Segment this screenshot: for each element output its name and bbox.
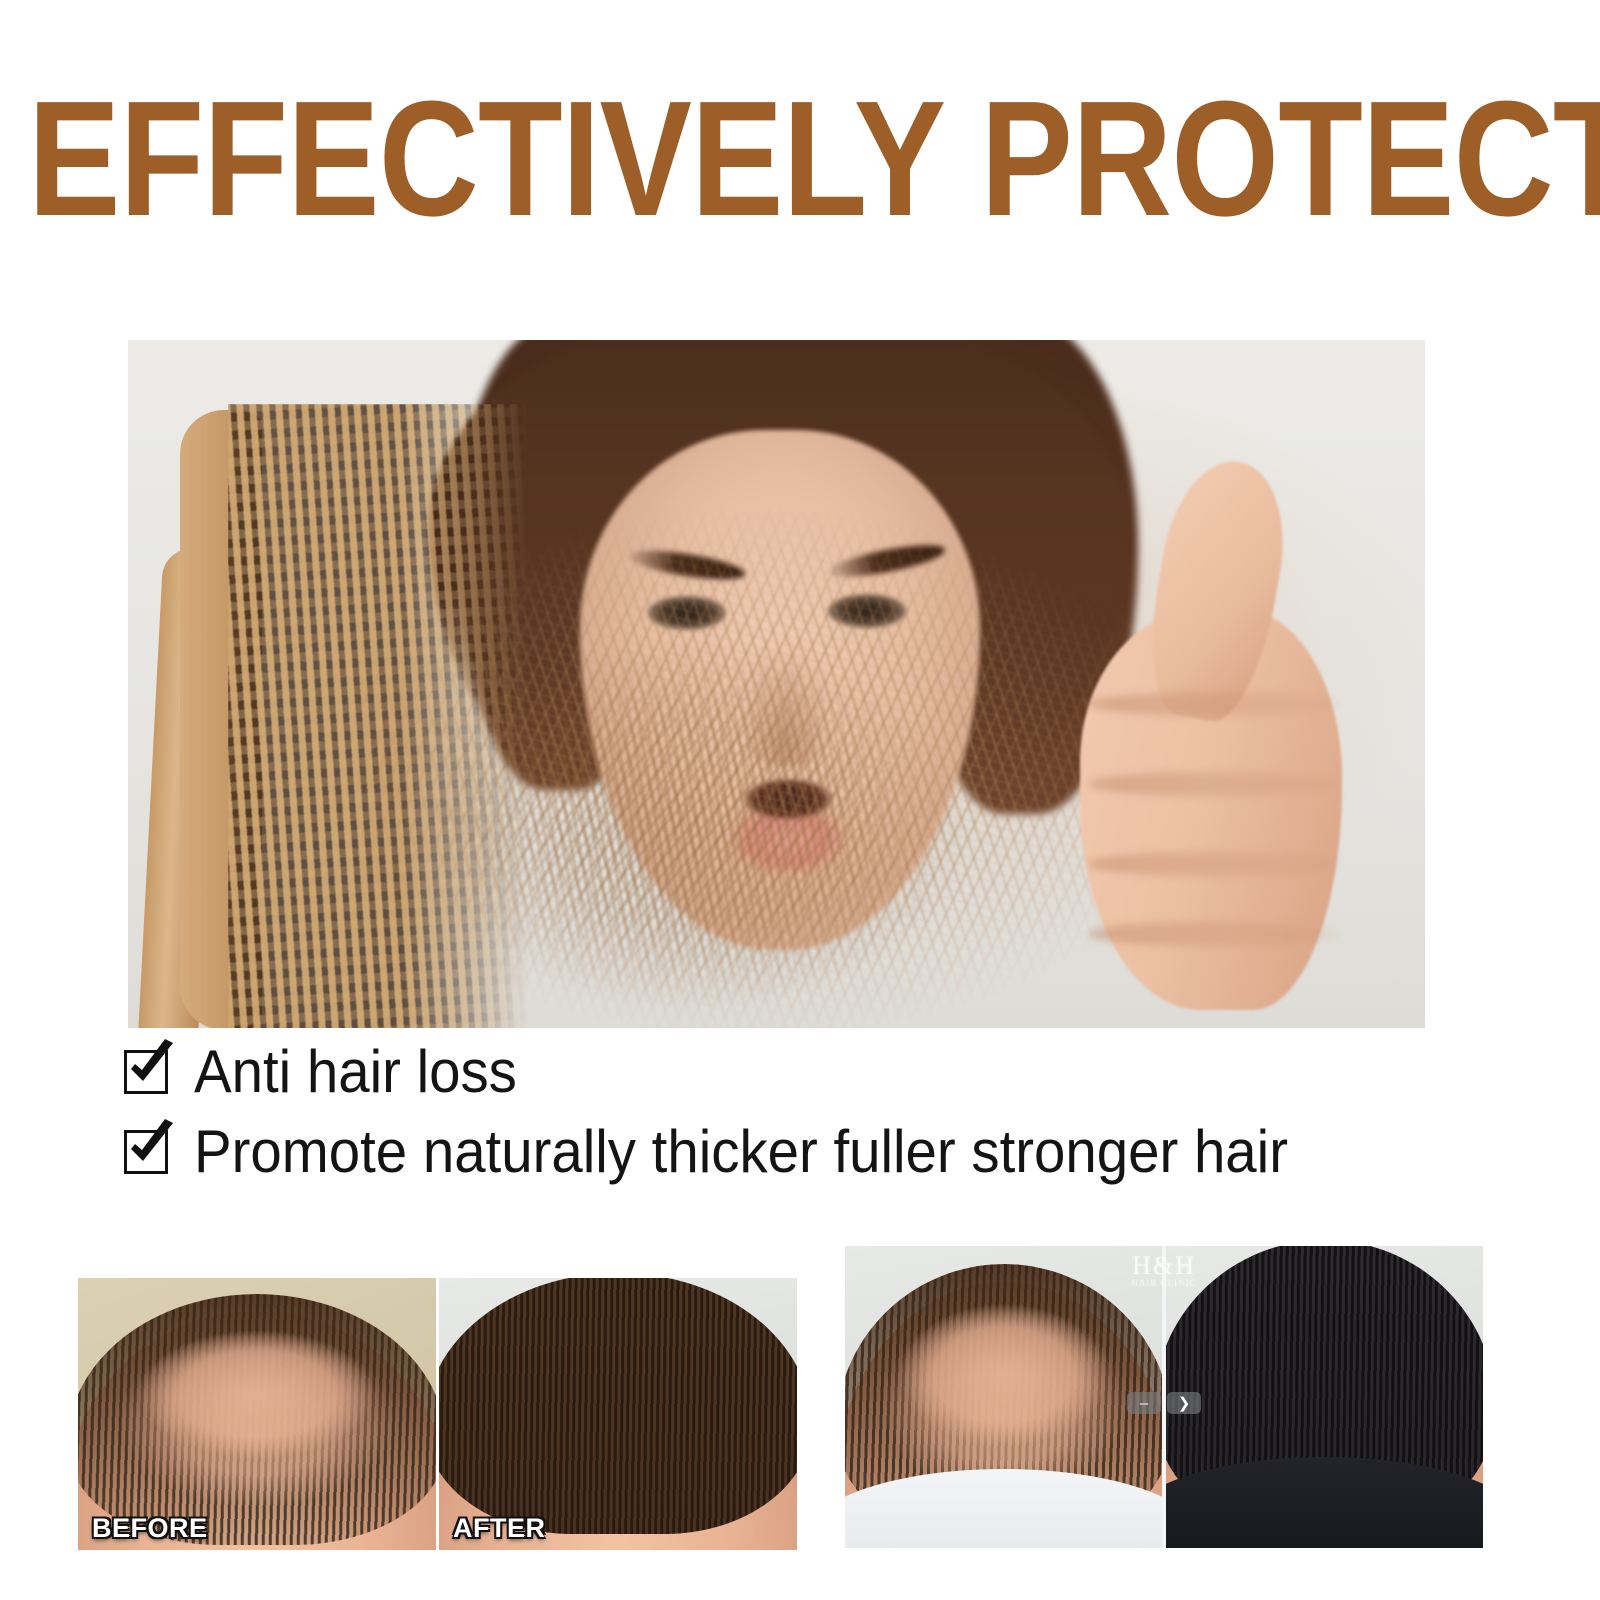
feature-item-promote-growth: Promote naturally thicker fuller stronge…: [124, 1122, 1484, 1182]
restored-hair: [436, 1278, 797, 1534]
hero-knuckle: [1088, 772, 1338, 796]
hero-knuckle: [1088, 922, 1338, 946]
dark-jacket-shoulder: [1162, 1457, 1483, 1548]
after-photo-crown: [1162, 1246, 1483, 1548]
feature-list: Anti hair loss Promote naturally thicker…: [124, 1042, 1484, 1202]
feature-item-anti-hair-loss: Anti hair loss: [124, 1042, 1484, 1102]
before-after-left-photo-pair: BEFORE AFTER: [78, 1278, 797, 1550]
thinning-hair: [78, 1294, 436, 1544]
feature-label: Promote naturally thicker fuller stronge…: [194, 1122, 1288, 1182]
after-photo: AFTER: [436, 1278, 797, 1550]
page-headline: EFFECTIVELY PROTECT SCALP: [28, 84, 1333, 234]
feature-label: Anti hair loss: [194, 1042, 517, 1102]
hero-hand: [1028, 460, 1358, 1020]
hero-image: [128, 340, 1425, 1028]
checkbox-checked-icon: [124, 1130, 168, 1174]
before-photo: BEFORE: [78, 1278, 436, 1550]
hero-knuckle: [1088, 692, 1338, 716]
hero-knuckle: [1088, 852, 1338, 876]
chevron-right-icon[interactable]: ❯: [1167, 1392, 1201, 1414]
checkbox-checked-icon: [124, 1050, 168, 1094]
before-label: BEFORE: [92, 1513, 208, 1544]
after-label: AFTER: [453, 1513, 546, 1544]
before-after-right-photo-pair: H&H HAIR CLINIC – ❯: [845, 1246, 1483, 1548]
minus-icon[interactable]: –: [1127, 1392, 1161, 1414]
shed-hair-clump: [428, 640, 968, 1010]
white-shirt-shoulder: [845, 1469, 1162, 1548]
carousel-nav[interactable]: – ❯: [1127, 1392, 1201, 1414]
before-photo-crown: [845, 1246, 1162, 1548]
